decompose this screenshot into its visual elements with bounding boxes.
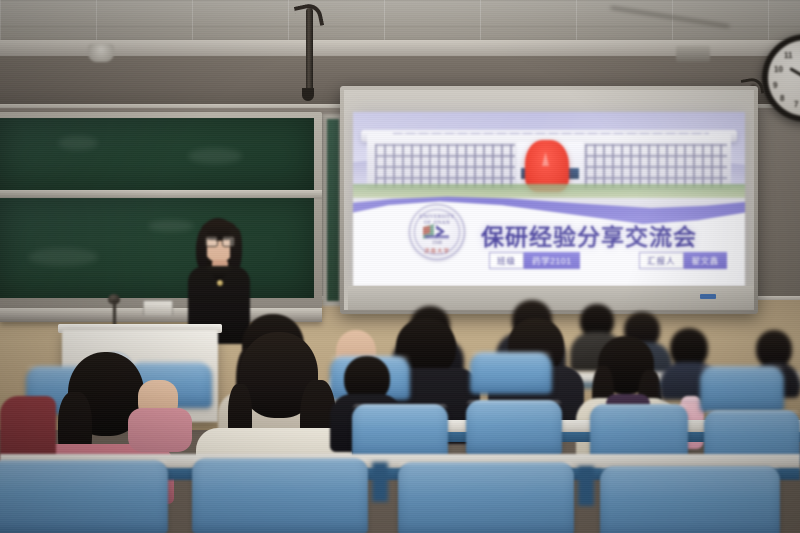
slide-title: 保研经验分享交流会 xyxy=(481,218,741,252)
slide-field-class-value: 药学2101 xyxy=(524,252,580,269)
slide-field-presenter-label: 汇报人 xyxy=(639,252,684,269)
whiteboard-projection-screen: UNIVERSITY OF JINAN 1948 济南大学 保研经验分享交流会 … xyxy=(340,86,758,314)
glasses-lens-right xyxy=(222,236,235,247)
university-logo: UNIVERSITY OF JINAN 1948 济南大学 xyxy=(409,204,465,260)
presenter-pendant xyxy=(217,280,223,286)
ceiling-vent xyxy=(676,46,710,62)
seat[interactable] xyxy=(192,458,368,533)
blue-marker xyxy=(700,294,716,299)
clock-numeral-8: 8 xyxy=(780,94,784,103)
lecture-hall-scene: 12 11 10 9 8 7 xyxy=(0,0,800,533)
clock-numeral-9: 9 xyxy=(773,81,777,90)
slide-field-presenter-value: 翟文鑫 xyxy=(684,252,727,269)
seat[interactable] xyxy=(600,466,780,533)
logo-year: 1948 xyxy=(410,241,464,246)
hanging-rod-tip xyxy=(302,88,314,101)
blackboard-upper-panel xyxy=(0,118,314,192)
smoke-detector-icon xyxy=(88,44,114,62)
clock-numeral-11: 11 xyxy=(784,51,792,60)
seat-divider xyxy=(372,462,388,502)
seat[interactable] xyxy=(398,462,574,533)
seat[interactable] xyxy=(0,460,168,533)
chalkboard-eraser xyxy=(143,300,173,316)
clock-numeral-7: 7 xyxy=(794,100,798,109)
chalk-smudge xyxy=(188,148,242,164)
seat[interactable] xyxy=(352,404,448,460)
glasses-lens-left xyxy=(205,236,218,247)
seat xyxy=(700,366,784,412)
blackboard xyxy=(0,112,322,308)
seat-divider xyxy=(578,466,594,506)
slide-meta-fields: 班级 药学2101 汇报人 翟文鑫 xyxy=(489,252,739,269)
projected-slide: UNIVERSITY OF JINAN 1948 济南大学 保研经验分享交流会 … xyxy=(353,112,745,286)
slide-building-windows-right xyxy=(585,144,727,188)
hanging-rod xyxy=(306,8,313,94)
slide-field-presenter: 汇报人 翟文鑫 xyxy=(639,252,727,269)
slide-field-class: 班级 药学2101 xyxy=(489,252,580,269)
presenter-glasses-icon xyxy=(205,236,233,245)
chalk-smudge xyxy=(28,248,98,266)
logo-emblem-icon xyxy=(423,224,451,239)
chalk-smudge xyxy=(58,136,98,150)
slide-building-windows-left xyxy=(375,144,515,188)
audience-person-front-hand xyxy=(128,380,192,450)
clock-hour-hand xyxy=(789,67,800,79)
logo-chinese-name: 济南大学 xyxy=(410,247,464,255)
slide-field-class-label: 班级 xyxy=(489,252,524,269)
sleeve xyxy=(128,408,192,452)
blackboard-lower-panel xyxy=(0,198,314,298)
clock-numeral-10: 10 xyxy=(774,65,783,74)
seat xyxy=(470,352,552,394)
screen-surface: UNIVERSITY OF JINAN 1948 济南大学 保研经验分享交流会 … xyxy=(344,90,754,310)
seat[interactable] xyxy=(466,400,562,456)
